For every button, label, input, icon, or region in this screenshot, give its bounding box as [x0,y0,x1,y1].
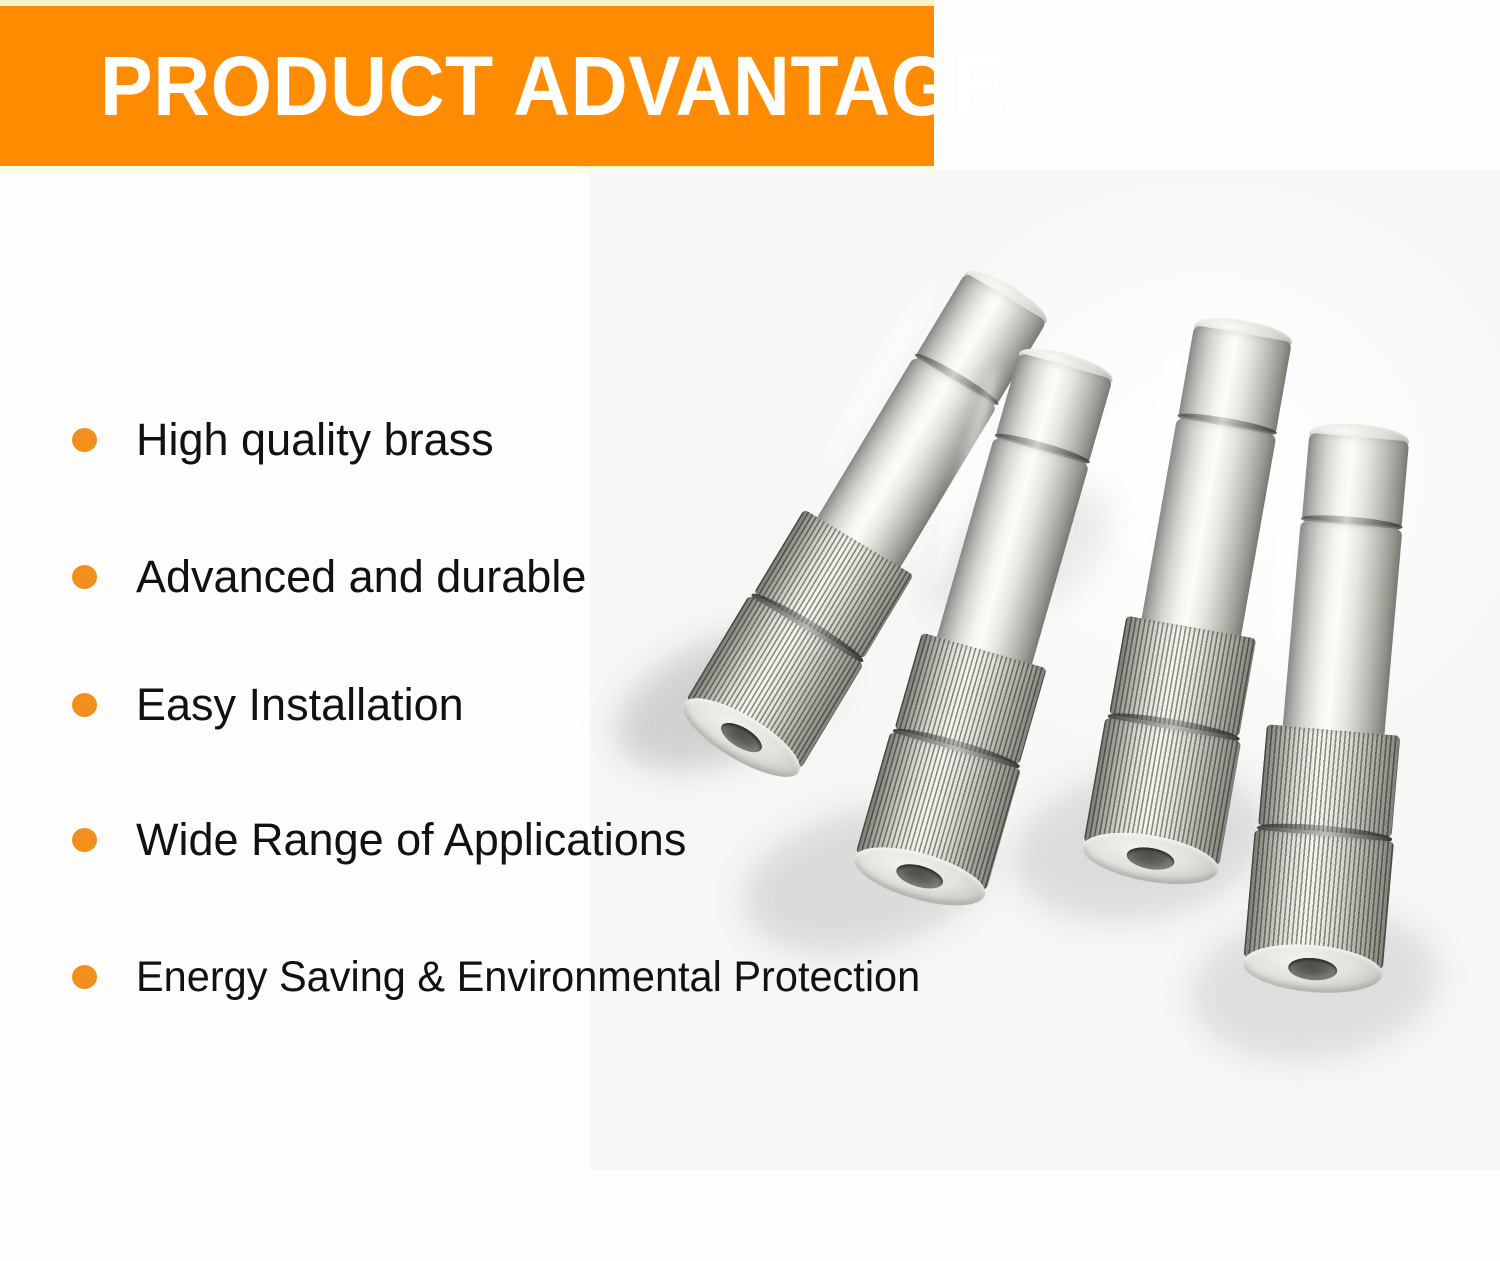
nozzle-orifice [1287,956,1338,982]
nozzle-knurled-collar [1258,724,1400,837]
feature-item: Energy Saving & Environmental Protection [72,949,949,1005]
feature-label: Energy Saving & Environmental Protection [136,951,920,1003]
feature-label: High quality brass [136,414,494,466]
nozzle-shaft [1282,520,1402,742]
feature-list: High quality brass Advanced and durable … [0,0,1060,1261]
nozzle-orifice [1125,844,1176,873]
feature-item: Advanced and durable [72,549,586,605]
feature-label: Wide Range of Applications [136,814,686,866]
feature-item: Easy Installation [72,677,464,733]
bullet-dot-icon [72,828,97,852]
product-advantage-infographic: PRODUCT ADVANTAGE [0,0,1500,1261]
bullet-dot-icon [72,693,97,717]
feature-label: Easy Installation [136,679,464,731]
bullet-dot-icon [72,965,97,989]
nozzle-shaft [1302,433,1409,527]
bullet-dot-icon [72,428,97,452]
feature-item: Wide Range of Applications [72,812,686,868]
feature-item: High quality brass [72,412,494,468]
feature-label: Advanced and durable [136,551,586,603]
bullet-dot-icon [72,565,97,589]
